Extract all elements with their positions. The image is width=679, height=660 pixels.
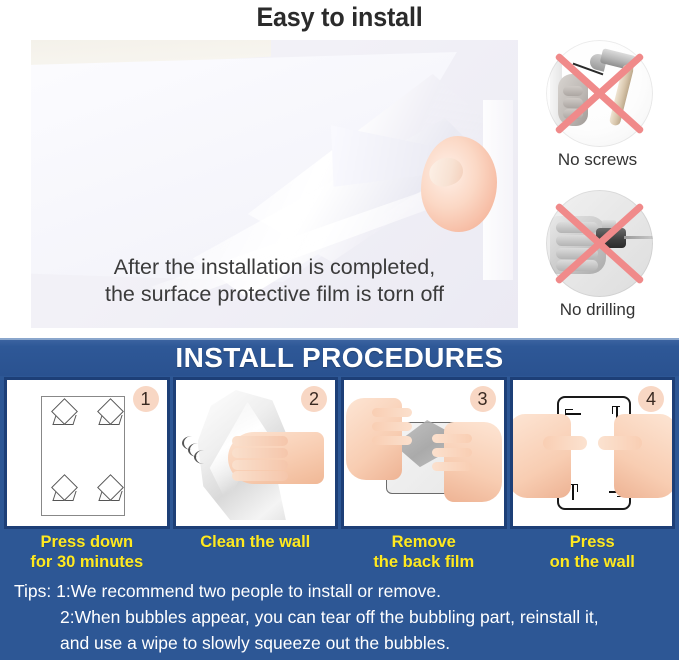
step-panels: 1 2 3 bbox=[4, 377, 675, 529]
red-x-icon bbox=[546, 190, 653, 297]
step-panel-3: 3 bbox=[341, 377, 507, 529]
no-drilling-icon-block: No drilling bbox=[520, 190, 675, 335]
right-hand-icon bbox=[444, 422, 502, 502]
step-caption-1: Press down for 30 minutes bbox=[4, 532, 170, 578]
tips-block: Tips: 1:We recommend two people to insta… bbox=[14, 578, 669, 656]
step-caption-4: Press on the wall bbox=[510, 532, 676, 578]
no-screws-icon-block: No screws bbox=[520, 40, 675, 185]
install-procedures-section: INSTALL PROCEDURES 1 2 bbox=[0, 338, 679, 660]
adhesive-pad-icon bbox=[98, 478, 124, 504]
restriction-icon-column: No screws No drilling bbox=[520, 40, 675, 335]
right-hand-icon bbox=[614, 414, 675, 498]
left-hand-icon bbox=[510, 414, 571, 498]
step-panel-2: 2 bbox=[173, 377, 339, 529]
step-panel-1: 1 bbox=[4, 377, 170, 529]
step-panel-4: 4 bbox=[510, 377, 676, 529]
step-badge-4: 4 bbox=[638, 386, 664, 412]
procedures-banner-title: INSTALL PROCEDURES bbox=[0, 340, 679, 376]
step-badge-1: 1 bbox=[133, 386, 159, 412]
no-screws-label: No screws bbox=[520, 150, 675, 170]
finger-icon bbox=[421, 136, 497, 232]
hand-icon bbox=[228, 432, 324, 484]
hero-photo: After the installation is completed, the… bbox=[31, 40, 518, 328]
step-caption-3: Remove the back film bbox=[341, 532, 507, 578]
no-drilling-label: No drilling bbox=[520, 300, 675, 320]
procedures-banner: INSTALL PROCEDURES bbox=[0, 338, 679, 376]
step-badge-3: 3 bbox=[470, 386, 496, 412]
tips-line-2: 2:When bubbles appear, you can tear off … bbox=[14, 604, 669, 630]
product-infographic: Easy to install After the installation i… bbox=[0, 0, 679, 660]
page-title: Easy to install bbox=[24, 0, 655, 36]
left-hand-icon bbox=[346, 398, 402, 480]
step-captions: Press down for 30 minutes Clean the wall… bbox=[4, 532, 675, 578]
adhesive-pad-icon bbox=[52, 478, 78, 504]
tips-line-1: Tips: 1:We recommend two people to insta… bbox=[14, 578, 669, 604]
tips-line-3: and use a wipe to slowly squeeze out the… bbox=[14, 630, 669, 656]
step-caption-2: Clean the wall bbox=[173, 532, 339, 578]
red-x-icon bbox=[546, 40, 653, 147]
top-section: Easy to install After the installation i… bbox=[0, 0, 679, 340]
adhesive-pad-icon bbox=[98, 402, 124, 428]
step-badge-2: 2 bbox=[301, 386, 327, 412]
motion-lines-icon bbox=[182, 436, 206, 464]
adhesive-pad-icon bbox=[52, 402, 78, 428]
photo-caption: After the installation is completed, the… bbox=[31, 254, 518, 308]
